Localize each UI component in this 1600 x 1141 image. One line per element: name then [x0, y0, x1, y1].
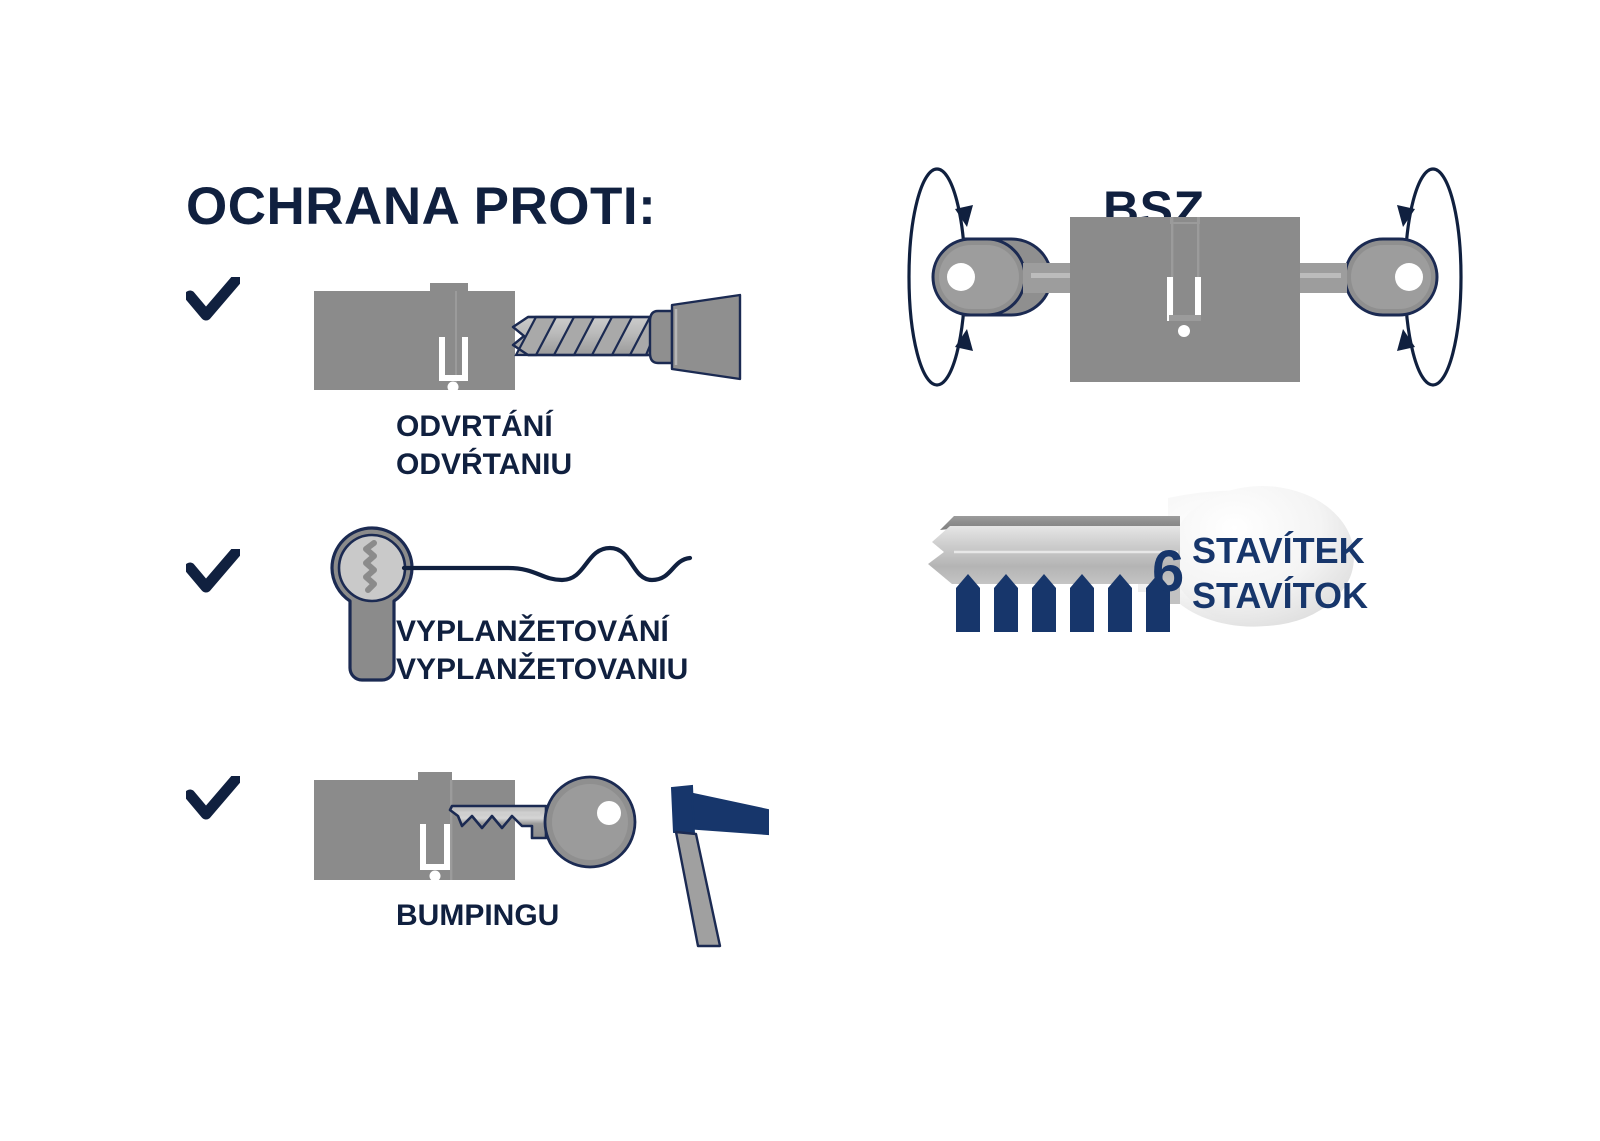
cylinder-with-drill-bit-illustration: [300, 275, 770, 410]
row-label-drilling: ODVRTÁNÍ ODVŔTANIU: [396, 408, 572, 485]
cylinder-body: [314, 772, 515, 882]
check-icon: [186, 776, 240, 822]
page-title: OCHRANA PROTI:: [186, 176, 656, 237]
pins-label-cs: STAVÍTEK: [1192, 528, 1368, 573]
row-label-picking: VYPLANŽETOVÁNÍ VYPLANŽETOVANIU: [396, 613, 688, 690]
pins-label-sk: STAVÍTOK: [1192, 573, 1368, 618]
row-label-bumping-cs: BUMPINGU: [396, 897, 559, 935]
infographic-canvas: OCHRANA PROTI:: [0, 0, 1600, 1141]
row-label-picking-cs: VYPLANŽETOVÁNÍ: [396, 613, 688, 651]
check-icon: [186, 549, 240, 595]
row-label-drilling-sk: ODVŔTANIU: [396, 446, 572, 484]
pins-count: 6: [1152, 538, 1184, 605]
cylinder-body: [1070, 217, 1300, 382]
check-icon: [186, 277, 240, 323]
cylinder-body: [314, 283, 515, 393]
row-label-bumping: BUMPINGU: [396, 897, 559, 935]
double-thumbturn-cylinder-illustration: [905, 165, 1465, 395]
thumbturn-knob-right: [1297, 239, 1437, 315]
row-label-drilling-cs: ODVRTÁNÍ: [396, 408, 572, 446]
drill-bit: [513, 295, 740, 379]
row-label-picking-sk: VYPLANŽETOVANIU: [396, 651, 688, 689]
hammer: [672, 786, 768, 946]
protection-features-section: OCHRANA PROTI:: [0, 0, 800, 1141]
thumbturn-knob-left: [933, 239, 1075, 315]
pick-wave-line: [404, 548, 690, 580]
pins-label: STAVÍTEK STAVÍTOK: [1192, 528, 1368, 618]
bsz-and-pins-section: BSZ: [800, 0, 1600, 1141]
